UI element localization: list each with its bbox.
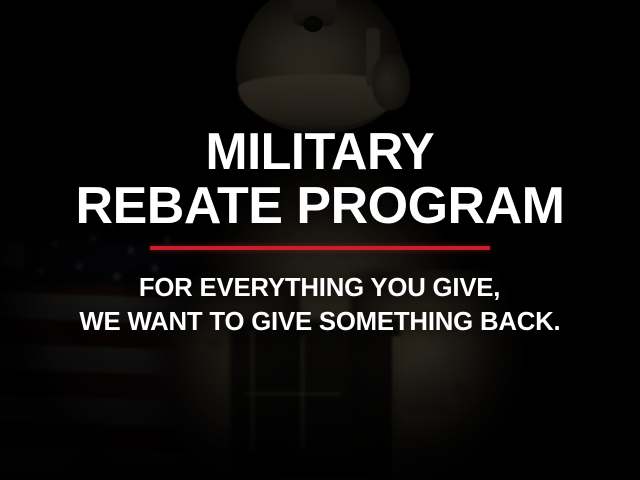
headline-line-1: MILITARY <box>206 128 435 178</box>
headline-line-2: REBATE PROGRAM <box>76 182 565 232</box>
subtitle-line-1: FOR EVERYTHING YOU GIVE, <box>139 272 500 302</box>
red-divider-rule <box>150 246 490 250</box>
banner-content: MILITARY REBATE PROGRAM FOR EVERYTHING Y… <box>0 0 640 480</box>
subtitle-line-2: WE WANT TO GIVE SOMETHING BACK. <box>79 306 560 336</box>
promotional-banner: ★★★★★★★★★★★★ MILITARY REBATE PROGRAM FOR… <box>0 0 640 480</box>
